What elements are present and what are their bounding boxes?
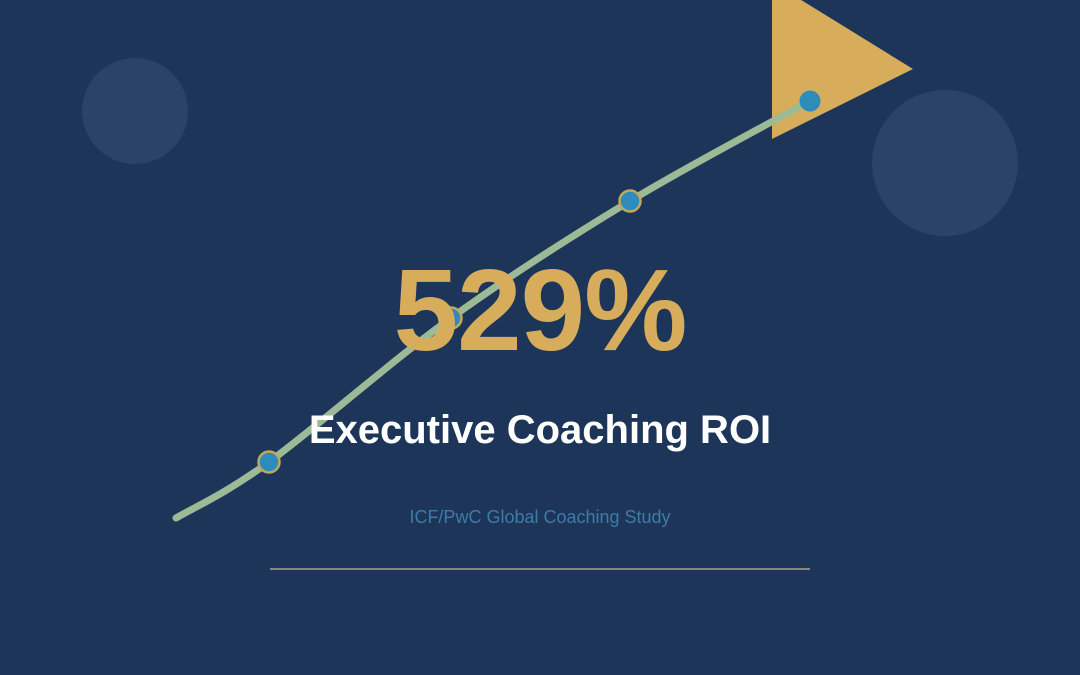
data-point-marker	[620, 191, 641, 212]
data-point-marker-end	[800, 91, 821, 112]
growth-curve-graphic	[0, 0, 1080, 675]
data-point-marker	[259, 452, 280, 473]
data-point-marker	[441, 308, 462, 329]
arrowhead-icon	[772, 0, 913, 139]
slide-canvas: 529% Executive Coaching ROI ICF/PwC Glob…	[0, 0, 1080, 675]
